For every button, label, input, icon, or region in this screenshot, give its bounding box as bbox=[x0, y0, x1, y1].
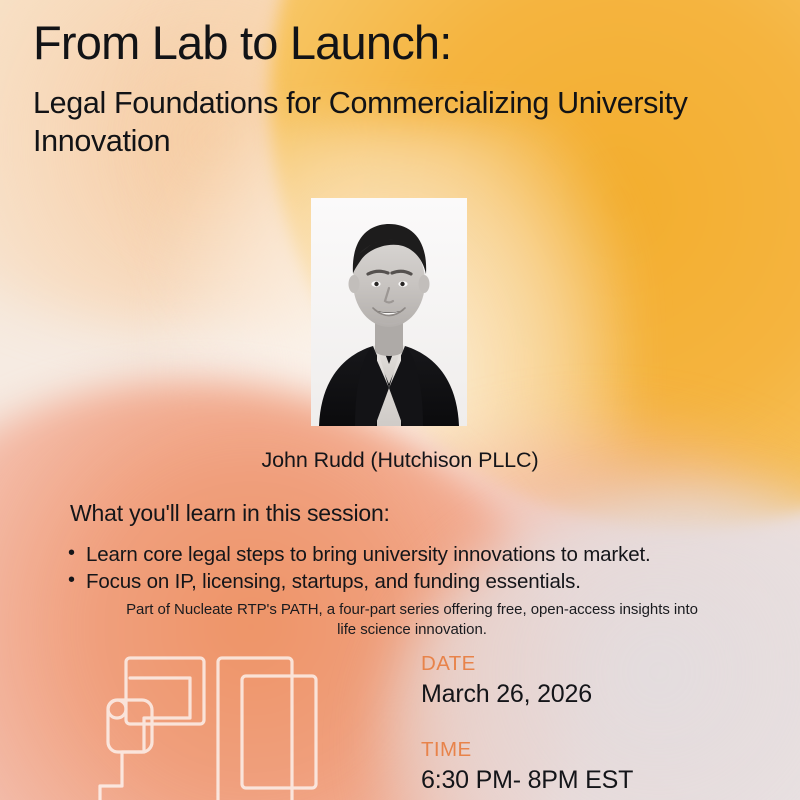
learn-heading: What you'll learn in this session: bbox=[70, 500, 760, 527]
learn-bullet-list: Learn core legal steps to bring universi… bbox=[64, 541, 760, 596]
list-item: Learn core legal steps to bring universi… bbox=[64, 541, 760, 568]
page-title: From Lab to Launch: bbox=[33, 18, 760, 68]
date-value: March 26, 2026 bbox=[421, 679, 633, 709]
series-note: Part of Nucleate RTP's PATH, a four-part… bbox=[124, 600, 700, 641]
speaker-headshot-photo bbox=[311, 198, 467, 426]
speaker-name: John Rudd (Hutchison PLLC) bbox=[0, 448, 800, 473]
date-group: DATE March 26, 2026 bbox=[421, 652, 633, 709]
date-label: DATE bbox=[421, 652, 633, 676]
event-flyer: From Lab to Launch: Legal Foundations fo… bbox=[0, 0, 800, 800]
time-group: TIME 6:30 PM- 8PM EST bbox=[421, 738, 633, 795]
headline-block: From Lab to Launch: Legal Foundations fo… bbox=[33, 18, 760, 161]
learn-section: What you'll learn in this session: Learn… bbox=[70, 500, 760, 596]
flyer-content: From Lab to Launch: Legal Foundations fo… bbox=[0, 0, 800, 800]
datetime-block: DATE March 26, 2026 TIME 6:30 PM- 8PM ES… bbox=[421, 652, 633, 795]
time-label: TIME bbox=[421, 738, 633, 762]
page-subtitle: Legal Foundations for Commercializing Un… bbox=[33, 84, 745, 161]
list-item: Focus on IP, licensing, startups, and fu… bbox=[64, 568, 760, 595]
time-value: 6:30 PM- 8PM EST bbox=[421, 765, 633, 795]
